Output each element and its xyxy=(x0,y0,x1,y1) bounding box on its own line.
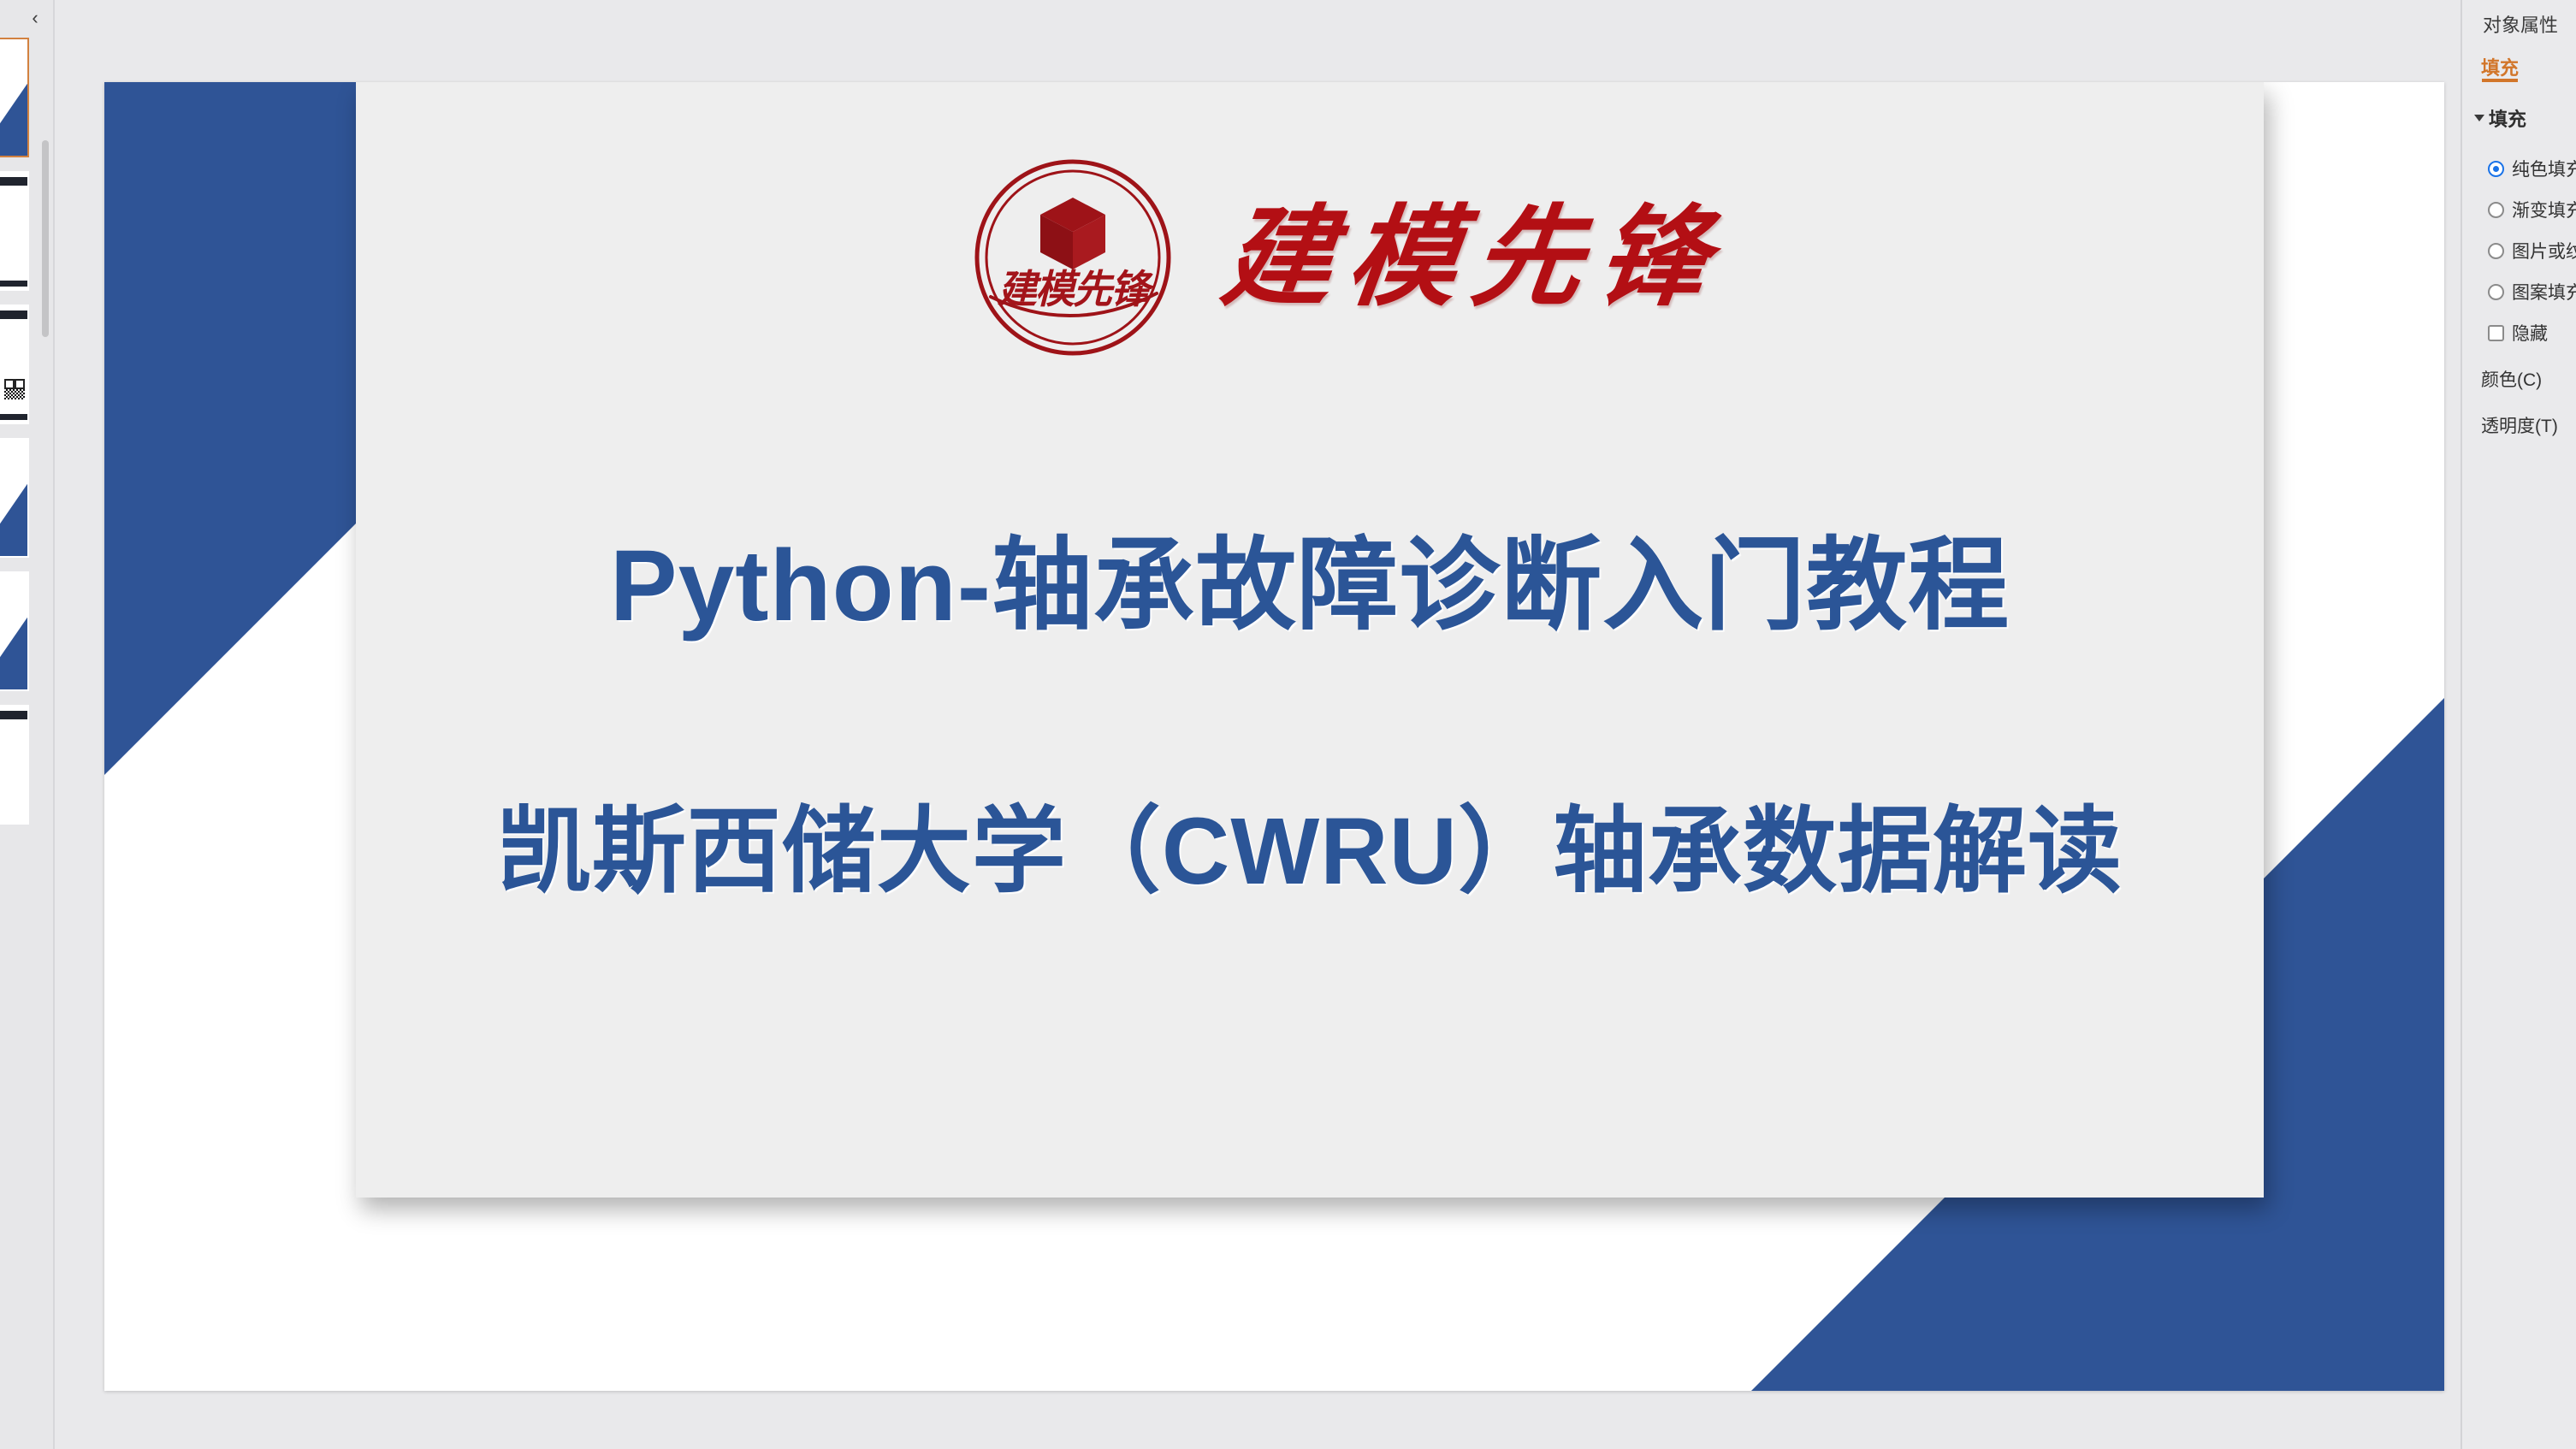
decorative-triangle xyxy=(0,84,27,156)
list-item[interactable] xyxy=(0,705,29,825)
thumbnail-preview: 扫码关注 xyxy=(0,306,27,423)
thumbnail-scrollbar-track[interactable] xyxy=(43,41,51,1444)
list-item[interactable]: 扫码关注 xyxy=(0,305,29,424)
list-item[interactable] xyxy=(0,171,29,291)
slide-title[interactable]: Python-轴承故障诊断入门教程 xyxy=(356,527,2264,646)
decorative-triangle xyxy=(0,618,27,689)
fill-option-label: 纯色填充 xyxy=(2512,156,2576,181)
fill-option-pattern[interactable]: 图案填充 xyxy=(2488,279,2576,305)
decorative-bar xyxy=(0,711,27,719)
tab-fill[interactable]: 填充 xyxy=(2481,53,2519,80)
transparency-field-label: 透明度(T) xyxy=(2481,412,2558,438)
radio-icon[interactable] xyxy=(2488,243,2504,259)
slide-canvas[interactable]: 建模先锋 建模先锋 Python-轴承故障诊断入门教程 凯斯西储大学（CWRU）… xyxy=(104,82,2444,1391)
decorative-bar xyxy=(0,281,27,287)
decorative-bar xyxy=(0,177,27,186)
tab-active-indicator xyxy=(2482,79,2518,82)
fill-option-label: 隐藏 xyxy=(2512,320,2548,346)
object-properties-panel: 对象属性 填充 填充 纯色填充 渐变填充 图片或纹理填充 图案填充 隐藏 颜色(… xyxy=(2462,0,2576,1449)
fill-option-label: 图片或纹理填充 xyxy=(2512,238,2576,263)
radio-icon[interactable] xyxy=(2488,284,2504,300)
decorative-bar xyxy=(0,414,27,420)
thumbnail-preview xyxy=(0,173,27,289)
slide-subtitle[interactable]: 凯斯西储大学（CWRU）轴承数据解读 xyxy=(356,796,2264,908)
chevron-down-icon[interactable] xyxy=(2474,115,2484,121)
panel-title: 对象属性 xyxy=(2483,10,2558,38)
fill-option-picture[interactable]: 图片或纹理填充 xyxy=(2488,238,2576,263)
thumbnail-preview xyxy=(0,39,27,156)
fill-option-label: 渐变填充 xyxy=(2512,197,2576,222)
checkbox-icon[interactable] xyxy=(2488,325,2504,341)
color-field-label: 颜色(C) xyxy=(2481,366,2542,392)
list-item[interactable] xyxy=(0,571,29,691)
slide-canvas-area[interactable]: 建模先锋 建模先锋 Python-轴承故障诊断入门教程 凯斯西储大学（CWRU）… xyxy=(55,0,2461,1449)
fill-option-label: 图案填充 xyxy=(2512,279,2576,305)
radio-icon[interactable] xyxy=(2488,161,2504,177)
presentation-editor-window: ‹ 扫码关注 xyxy=(0,0,2576,1449)
list-item[interactable] xyxy=(0,438,29,558)
fill-section-header[interactable]: 填充 xyxy=(2474,104,2526,132)
list-item[interactable] xyxy=(0,38,29,157)
brand-logo-group[interactable]: 建模先锋 建模先锋 xyxy=(968,151,1867,364)
chevron-left-icon[interactable]: ‹ xyxy=(24,7,46,29)
thumbnail-preview xyxy=(0,440,27,556)
thumbnail-panel-header: ‹ xyxy=(0,0,53,38)
thumbnail-preview xyxy=(0,707,27,823)
thumbnail-preview xyxy=(0,573,27,689)
qr-code-icon xyxy=(4,379,25,399)
decorative-triangle xyxy=(0,484,27,556)
fill-option-gradient[interactable]: 渐变填充 xyxy=(2488,197,2576,222)
brand-seal-icon: 建模先锋 xyxy=(968,153,1177,362)
radio-icon[interactable] xyxy=(2488,202,2504,218)
brand-wordmark: 建模先锋 xyxy=(1217,203,1730,312)
fill-option-hidden[interactable]: 隐藏 xyxy=(2488,320,2548,346)
fill-section-label: 填充 xyxy=(2489,104,2526,132)
slide-thumbnail-panel: ‹ 扫码关注 xyxy=(0,0,53,1449)
decorative-bar xyxy=(0,310,27,319)
thumbnail-scrollbar-thumb[interactable] xyxy=(42,140,49,337)
fill-option-solid[interactable]: 纯色填充 xyxy=(2488,156,2576,181)
